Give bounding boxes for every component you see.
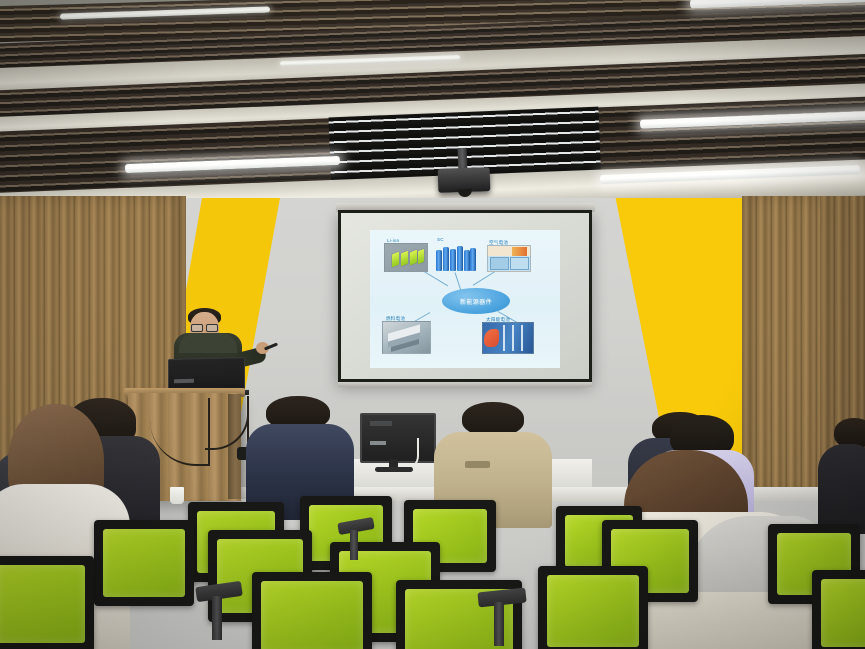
screen-bottom-bar [338, 382, 592, 387]
monitor-stand-base [375, 467, 413, 472]
chair-mid-1 [94, 520, 194, 606]
slide-image-fuel-cell [382, 321, 431, 354]
slide-center-label: 新能源器件 [460, 297, 492, 306]
paper-cup [170, 487, 184, 504]
monitor-label [370, 441, 386, 445]
slide-image-solar-cell [482, 322, 534, 354]
slide-label-fuel-cell: 燃料电池 [386, 316, 405, 322]
slide-label-li-ion: Li-ion [387, 238, 399, 243]
slide-center-bubble: 新能源器件 [442, 288, 510, 314]
armrest-pole-3 [350, 530, 358, 560]
chair-front-1 [0, 556, 94, 649]
presenter-hood [179, 333, 237, 353]
monitor-logo [370, 421, 392, 426]
ceiling [0, 0, 865, 210]
armrest-pole-1 [212, 596, 222, 640]
laptop-brand-badge [174, 379, 194, 384]
monitor-cable [395, 438, 419, 470]
chair-front-4 [538, 566, 648, 649]
slide-label-solar-cell: 太阳能电池 [486, 317, 510, 323]
lecture-hall-photo: Li-ion SC 空气电池 燃料电池 太阳能电池 新能源器件 [0, 0, 865, 649]
jacket-logo [465, 461, 490, 468]
chair-front-2 [252, 572, 372, 649]
slide-label-sc: SC [437, 237, 444, 242]
chair-front-5 [812, 570, 865, 649]
slide-label-air-battery: 空气电池 [489, 240, 508, 246]
slide-image-sc [434, 242, 476, 271]
armrest-pole-2 [494, 602, 504, 646]
slide-image-li-ion [384, 243, 428, 272]
slide-image-air-battery [487, 245, 531, 272]
glasses-icon [191, 324, 218, 330]
